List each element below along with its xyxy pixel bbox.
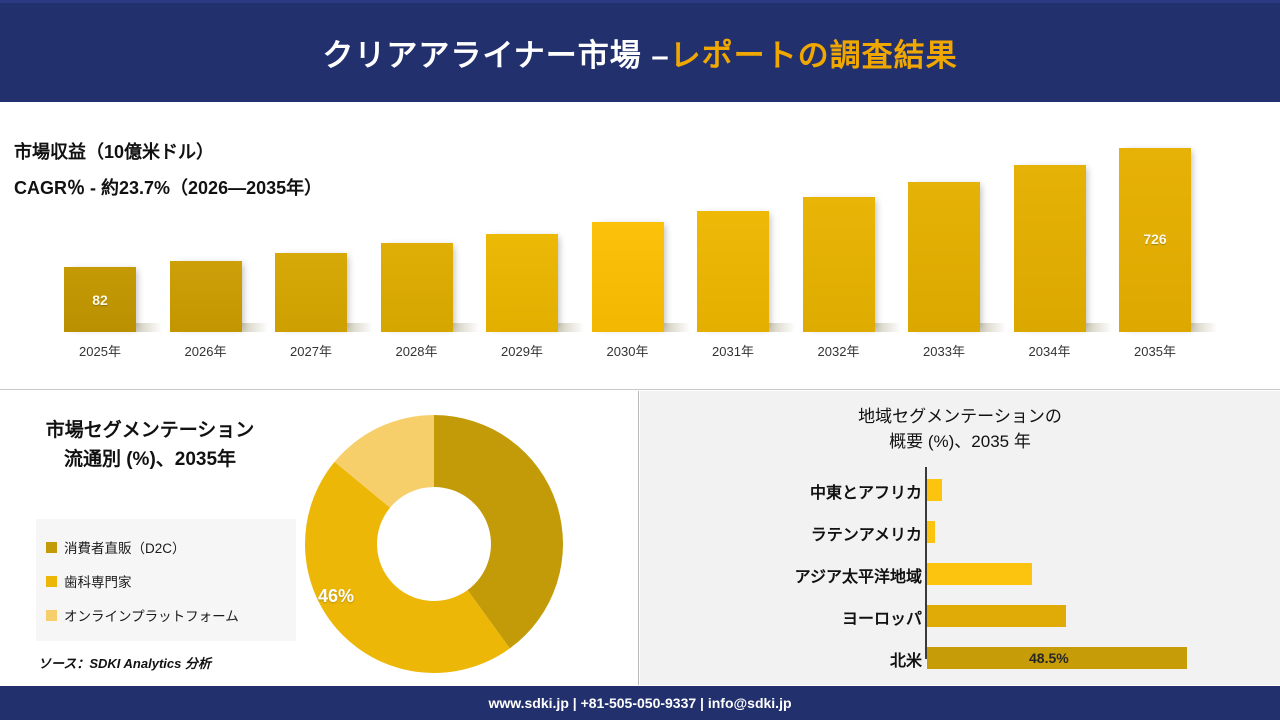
donut-legend-label: 歯科専門家 [64,571,132,591]
header-banner: クリアアライナー市場 –レポートの調査結果 [0,0,1280,102]
donut-svg [300,413,568,675]
region-bar-row: 中東とアフリカ [640,473,1280,511]
segmentation-donut-panel: 市場セグメンテーション 流通別 (%)、2035年 消費者直販（D2C）歯科専門… [0,391,639,685]
region-plot: 中東とアフリカラテンアメリカアジア太平洋地域ヨーロッパ北米48.5% [640,467,1280,667]
revenue-bar-value: 82 [64,292,136,308]
page-title: クリアアライナー市場 –レポートの調査結果 [322,30,957,75]
revenue-bar-column: 2034年 [1014,165,1086,332]
region-bar-label: ラテンアメリカ [682,521,922,545]
region-bar-row: アジア太平洋地域 [640,557,1280,595]
revenue-bar-year-label: 2027年 [275,341,347,360]
region-bar[interactable] [927,563,1032,585]
region-title-line2: 概要 (%)、2035 年 [640,430,1280,455]
revenue-bar-column: 7262035年 [1119,148,1191,332]
region-bar-row: ヨーロッパ [640,599,1280,637]
page-title-main: クリアアライナー市場 – [322,38,669,73]
revenue-bar-value: 726 [1119,231,1191,247]
revenue-bar-year-label: 2029年 [486,341,558,360]
donut-legend-item[interactable]: オンラインプラットフォーム [46,605,288,625]
revenue-bar-column: 2027年 [275,253,347,332]
region-bar-label: 中東とアフリカ [682,479,922,503]
revenue-bar [697,211,769,332]
revenue-bar-year-label: 2028年 [381,341,453,360]
revenue-bar [803,197,875,332]
revenue-bars-group: 822025年2026年2027年2028年2029年2030年2031年203… [0,102,1280,390]
revenue-bar [170,261,242,332]
legend-swatch-icon [46,576,57,587]
revenue-bar-column: 2029年 [486,234,558,332]
region-bar[interactable] [927,521,935,543]
revenue-bar-year-label: 2030年 [592,341,664,360]
revenue-bar: 82 [64,267,136,332]
revenue-bar [592,222,664,332]
revenue-chart-panel: 市場収益（10億米ドル） CAGR％ - 約23.7%（2026―2035年） … [0,102,1280,390]
region-chart-panel: 地域セグメンテーションの 概要 (%)、2035 年 中東とアフリカラテンアメリ… [640,391,1280,685]
revenue-bar-column: 822025年 [64,267,136,332]
region-bar-label: ヨーロッパ [682,605,922,629]
revenue-bar: 726 [1119,148,1191,332]
source-note: ソース：SDKI Analytics 分析 [38,653,211,672]
revenue-bar-year-label: 2026年 [170,341,242,360]
revenue-bar-year-label: 2025年 [64,341,136,360]
region-title: 地域セグメンテーションの 概要 (%)、2035 年 [640,405,1280,454]
footer-contact: www.sdki.jp | +81-505-050-9337 | info@sd… [488,695,791,711]
region-bar-row: 北米48.5% [640,641,1280,679]
region-bar-row: ラテンアメリカ [640,515,1280,553]
donut-legend: 消費者直販（D2C）歯科専門家オンラインプラットフォーム [36,519,296,641]
donut-value-label: 46% [318,586,354,607]
region-bar-label: 北米 [682,647,922,671]
revenue-bar-column: 2030年 [592,222,664,332]
revenue-bar-column: 2026年 [170,261,242,332]
donut-title-line2: 流通別 (%)、2035年 [0,446,300,475]
donut-title-line1: 市場セグメンテーション [0,417,300,446]
revenue-bar-year-label: 2034年 [1014,341,1086,360]
donut-legend-label: オンラインプラットフォーム [64,605,239,625]
revenue-bar [275,253,347,332]
page-title-accent: レポートの調査結果 [670,38,958,73]
footer-bar: www.sdki.jp | +81-505-050-9337 | info@sd… [0,686,1280,720]
donut-legend-item[interactable]: 歯科専門家 [46,571,288,591]
revenue-bar-year-label: 2031年 [697,341,769,360]
region-bar-label: アジア太平洋地域 [682,563,922,587]
region-title-line1: 地域セグメンテーションの [640,405,1280,430]
region-bar[interactable] [927,605,1066,627]
revenue-bar-year-label: 2032年 [803,341,875,360]
donut-title: 市場セグメンテーション 流通別 (%)、2035年 [0,417,300,474]
revenue-bar [1014,165,1086,332]
legend-swatch-icon [46,542,57,553]
revenue-bar [381,243,453,332]
donut-chart [300,413,568,675]
revenue-bar-column: 2028年 [381,243,453,332]
legend-swatch-icon [46,610,57,621]
revenue-bar [908,182,980,332]
revenue-bar-year-label: 2033年 [908,341,980,360]
revenue-bar-year-label: 2035年 [1119,341,1191,360]
region-bar-value: 48.5% [1029,647,1069,669]
region-bar[interactable] [927,479,942,501]
revenue-bar-column: 2031年 [697,211,769,332]
revenue-bar-column: 2032年 [803,197,875,332]
revenue-bar-column: 2033年 [908,182,980,332]
donut-legend-item[interactable]: 消費者直販（D2C） [46,537,288,557]
revenue-bar [486,234,558,332]
donut-legend-label: 消費者直販（D2C） [64,537,186,557]
